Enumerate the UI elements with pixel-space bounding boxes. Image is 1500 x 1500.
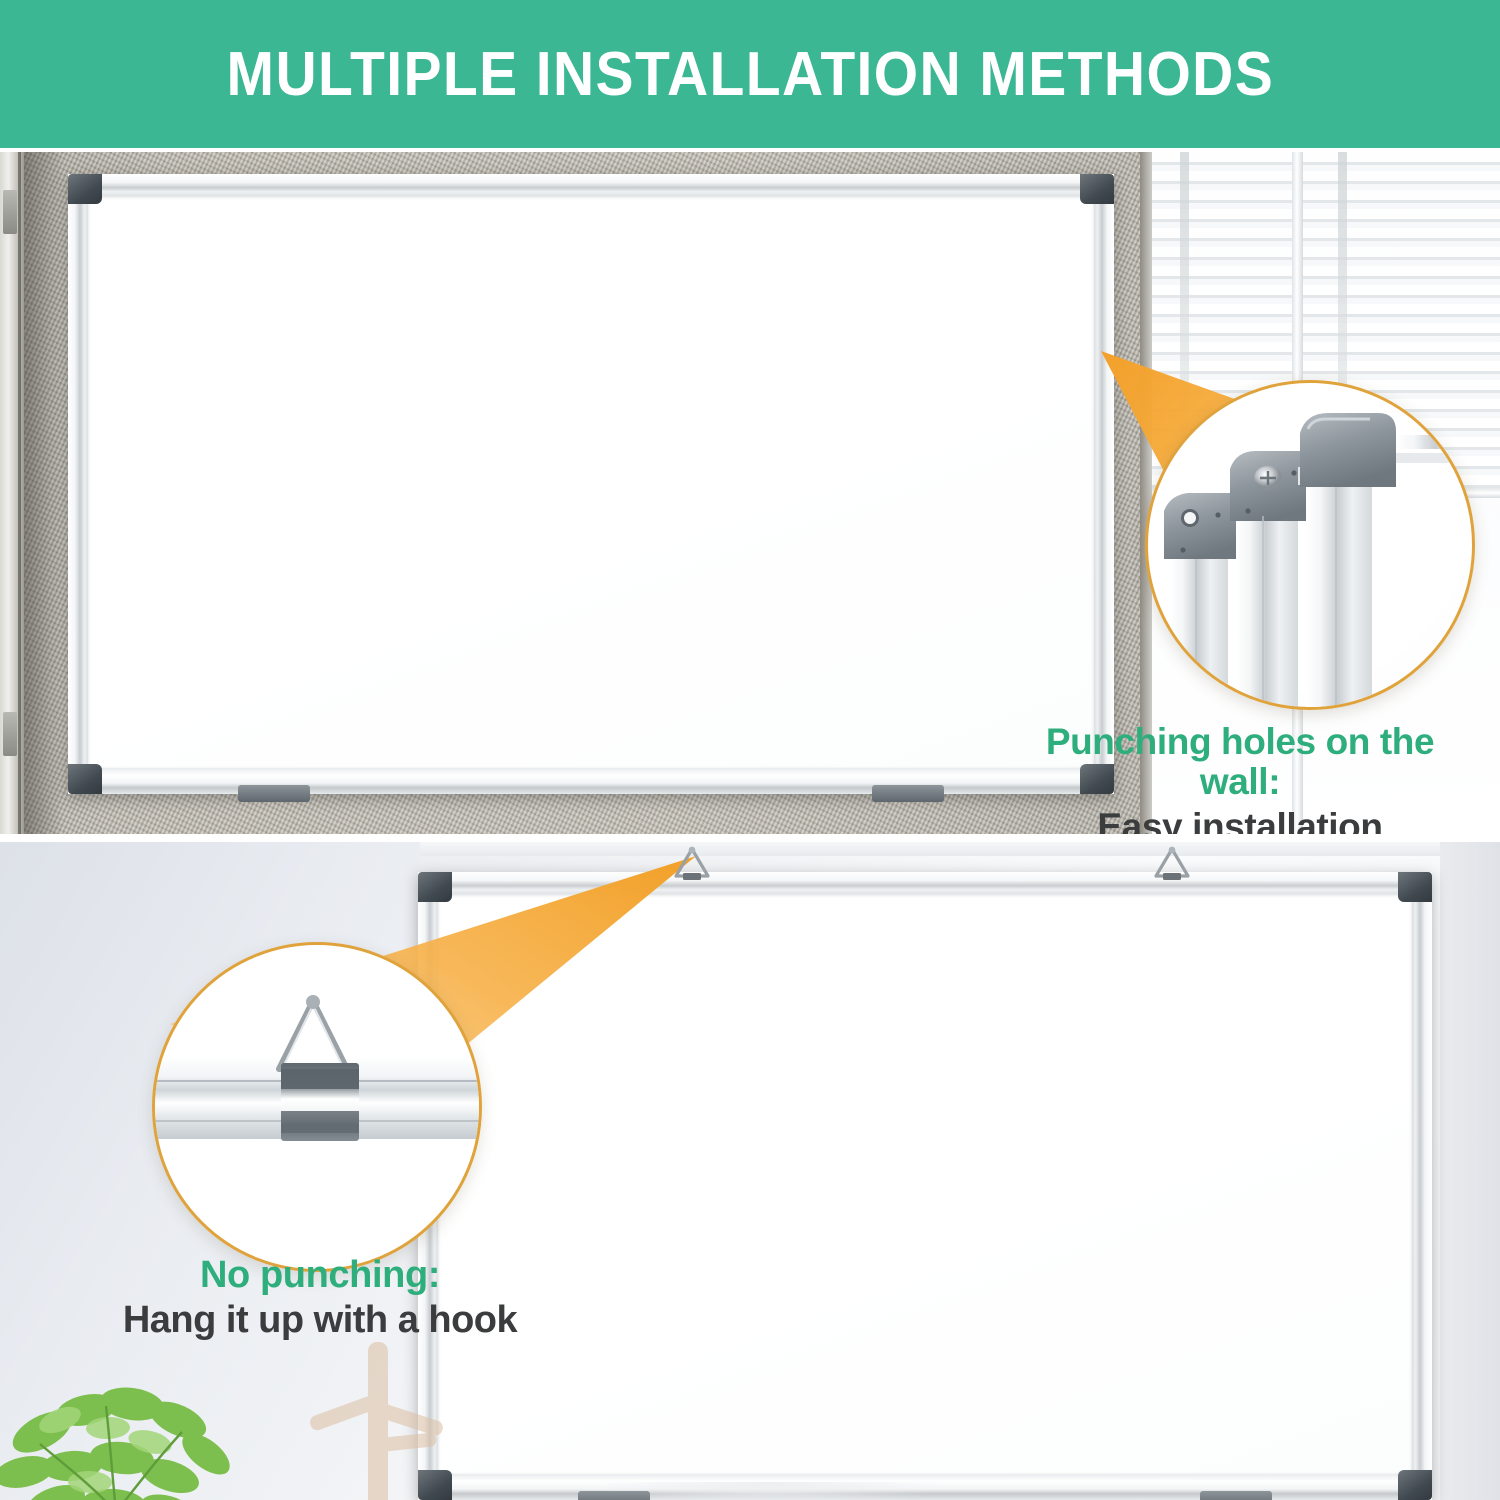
whiteboard-frame bbox=[418, 872, 1432, 1500]
hook-illustration bbox=[155, 945, 482, 1272]
caption-body-line1: Hang it up with a hook bbox=[60, 1299, 580, 1342]
door-hinge-lower bbox=[3, 712, 17, 756]
wire-hook-right bbox=[1150, 846, 1194, 880]
panel-divider bbox=[0, 834, 1500, 842]
caption-punching: Punching holes on the wall: Easy install… bbox=[1010, 722, 1470, 834]
caption-highlight: No punching: bbox=[60, 1255, 580, 1297]
whiteboard-frame bbox=[68, 174, 1114, 794]
frame-rail-top bbox=[68, 174, 1114, 196]
door-hinge-upper bbox=[3, 190, 17, 234]
whiteboard-surface bbox=[438, 894, 1412, 1474]
corner-cap-top-left bbox=[418, 872, 452, 902]
panel-punching-holes: Punching holes on the wall: Easy install… bbox=[0, 152, 1500, 834]
corner-cap-bottom-right bbox=[1398, 1470, 1432, 1500]
wire-hook-left bbox=[670, 846, 714, 880]
caption-highlight: Punching holes on the wall: bbox=[1010, 722, 1470, 802]
wall-shadow bbox=[24, 152, 64, 834]
detail-circle-frame-corners bbox=[1145, 380, 1475, 710]
page-title: MULTIPLE INSTALLATION METHODS bbox=[226, 39, 1274, 110]
frame-rail-right bbox=[1094, 174, 1114, 794]
smooth-wall-right bbox=[1440, 842, 1500, 1500]
caption-no-punching: No punching: Hang it up with a hook bbox=[60, 1255, 580, 1341]
corner-cap-bottom-left bbox=[68, 764, 102, 794]
corner-cap-top-left bbox=[68, 174, 102, 204]
door-edge-line bbox=[18, 152, 21, 834]
caption-body-line1: Easy installation bbox=[1010, 806, 1470, 834]
header-banner: MULTIPLE INSTALLATION METHODS bbox=[0, 0, 1500, 148]
corner-cap-top-right bbox=[1080, 174, 1114, 204]
panel-no-punching: No punching: Hang it up with a hook bbox=[0, 842, 1500, 1500]
detail-circle-hook bbox=[152, 942, 482, 1272]
coat-rack bbox=[300, 1342, 460, 1500]
corner-cap-top-right bbox=[1398, 872, 1432, 902]
whiteboard-surface bbox=[88, 196, 1094, 768]
whiteboard-hook-hung bbox=[418, 872, 1432, 1500]
floor-reflection bbox=[600, 1482, 940, 1500]
whiteboard-wall-mounted bbox=[68, 174, 1114, 794]
product-feature-image: MULTIPLE INSTALLATION METHODS bbox=[0, 0, 1500, 1500]
frame-rail-right bbox=[1412, 872, 1432, 1500]
frame-rail-top bbox=[418, 872, 1432, 894]
pen-tray-clip-right bbox=[872, 785, 944, 802]
frame-rail-bottom bbox=[68, 768, 1114, 794]
frame-corner-illustration bbox=[1148, 383, 1475, 710]
pen-tray-clip-left bbox=[238, 785, 310, 802]
frame-rail-left bbox=[68, 174, 88, 794]
potted-plant bbox=[0, 1362, 290, 1500]
pen-tray-clip-right bbox=[1200, 1491, 1272, 1500]
pen-tray-clip-left bbox=[578, 1491, 650, 1500]
